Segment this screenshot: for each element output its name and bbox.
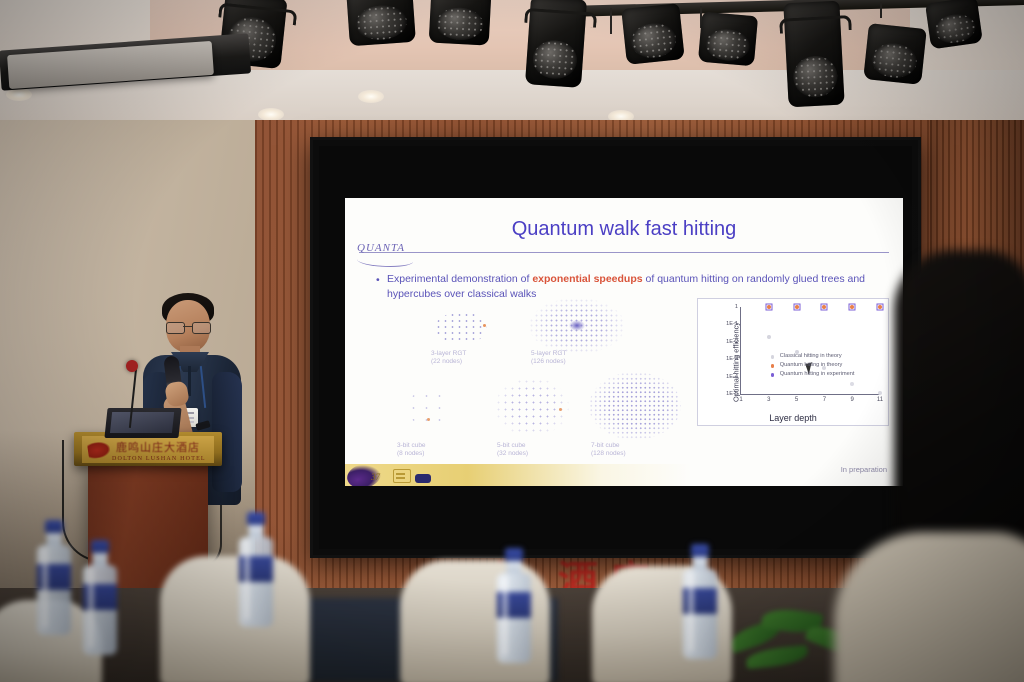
light-lens — [629, 21, 678, 60]
legend-item-quantum-experiment: Quantum hitting in experiment — [769, 370, 855, 379]
bottle-cap — [247, 512, 265, 526]
graph-label: 7-bit cube(128 nodes) — [591, 442, 626, 458]
node-accent — [483, 324, 486, 327]
water-bottle — [672, 544, 728, 682]
chart-y-tick: 1E-3 — [726, 356, 738, 362]
legend-label: Quantum hitting in theory — [780, 362, 843, 368]
led-array — [704, 28, 750, 63]
chart-plot-area: 1 1E-1 1E-2 1E-3 1E-4 1E-5 1 3 5 7 9 11 — [740, 307, 880, 395]
node-core — [569, 320, 585, 331]
chart-x-axis-label: Layer depth — [698, 413, 888, 423]
slide-number: 37 — [371, 472, 380, 482]
hypercube-graph-7bit — [589, 372, 681, 440]
data-point-classical — [767, 335, 771, 339]
glued-tree-graph-5layer — [529, 298, 625, 354]
node-accent — [559, 408, 562, 411]
bullet-text-highlight: exponential speedups — [532, 273, 642, 285]
legend-marker — [771, 373, 775, 377]
glasses-lens-left — [166, 322, 185, 334]
data-point-quantum-experiment — [793, 304, 800, 311]
plant-leaf — [745, 645, 809, 669]
bottle-cap — [45, 520, 63, 534]
led-array — [435, 7, 483, 42]
presentation-slide: Quantum walk fast hitting QUANTA •Experi… — [345, 198, 903, 486]
led-array — [933, 12, 977, 46]
light-lens — [355, 4, 409, 42]
chart-legend: Classical hitting in theory Quantum hitt… — [769, 352, 855, 379]
data-point-quantum-experiment — [765, 304, 772, 311]
bottle-highlight — [244, 540, 250, 620]
light-lens — [704, 28, 750, 63]
legend-marker — [771, 364, 775, 368]
bottle-cap — [505, 548, 523, 562]
bottle-highlight — [502, 576, 508, 656]
podium-sign: 鹿鸣山庄大酒店 DOLTON LUSHAN HOTEL — [82, 436, 214, 463]
light-yoke — [524, 8, 597, 28]
chart-x-tick: 5 — [795, 397, 798, 403]
light-cable — [610, 8, 612, 34]
stage-par-light — [698, 12, 758, 67]
podium-sign-english: DOLTON LUSHAN HOTEL — [112, 456, 206, 462]
stage-par-light — [863, 23, 927, 85]
data-point-quantum-experiment — [877, 304, 884, 311]
chart-x-tick: 11 — [877, 397, 883, 403]
projection-screen: Quantum walk fast hitting QUANTA •Experi… — [310, 137, 921, 558]
legend-label: Quantum hitting in experiment — [780, 371, 855, 377]
bottle-highlight — [688, 572, 694, 652]
bullet-marker: • — [376, 273, 380, 288]
graph-label: 5-bit cube(32 nodes) — [497, 442, 528, 458]
legend-item-classical: Classical hitting in theory — [769, 352, 855, 361]
hotel-logo-icon — [87, 441, 111, 460]
stage-par-light — [429, 0, 492, 46]
footer-chip-icon — [415, 474, 431, 483]
stage-par-light — [525, 0, 587, 88]
glasses-lens-right — [192, 322, 211, 334]
light-lens — [933, 12, 977, 46]
chart-x-tick: 1 — [739, 397, 742, 403]
graph-label: 3-layer RGT(22 nodes) — [431, 350, 466, 366]
node-cloud — [435, 312, 487, 344]
node-cloud — [495, 378, 569, 436]
chart-y-tick: 1E-1 — [726, 321, 738, 327]
audience-member-silhouette — [894, 250, 1024, 550]
water-bottle — [72, 540, 128, 682]
light-lens — [792, 55, 838, 99]
led-array — [532, 39, 578, 81]
speaker-shirt-placket — [188, 366, 191, 396]
data-point-quantum-experiment — [821, 304, 828, 311]
bullet-text-prefix: Experimental demonstration of — [387, 273, 532, 285]
glasses-bridge — [183, 326, 192, 327]
podium-sign-chinese: 鹿鸣山庄大酒店 — [116, 439, 200, 455]
chart-x-tick: 3 — [767, 397, 770, 403]
chart-y-tick: 1 — [735, 304, 738, 310]
data-point-quantum-experiment — [849, 304, 856, 311]
hypercube-graph-5bit — [495, 378, 569, 436]
light-lens — [870, 41, 919, 80]
audience-member-shoulder — [834, 532, 1024, 682]
quanta-logo-text: QUANTA — [357, 242, 405, 254]
quanta-logo-swash — [357, 254, 413, 267]
hitting-efficiency-chart: Optimal hitting efficiency 1 1E-1 1E-2 1… — [697, 298, 889, 426]
graph-label: 5-layer RGT(126 nodes) — [531, 350, 566, 366]
led-array — [355, 4, 409, 42]
podium-laptop — [104, 408, 181, 438]
data-point-classical — [878, 391, 882, 395]
stage-par-light — [346, 0, 416, 46]
data-point-classical — [850, 382, 854, 386]
chart-x-tick: 9 — [851, 397, 854, 403]
legend-item-quantum-theory: Quantum hitting in theory — [769, 361, 855, 370]
glued-tree-graph-3layer — [431, 310, 493, 348]
hypercube-graph-3bit — [401, 384, 461, 434]
legend-label: Classical hitting in theory — [780, 353, 842, 359]
slide-title: Quantum walk fast hitting — [345, 218, 903, 241]
speaker-glasses — [166, 322, 210, 332]
title-divider — [359, 252, 889, 253]
bottle-highlight — [88, 568, 94, 648]
stage-par-light — [621, 3, 685, 65]
light-lens — [435, 7, 483, 42]
bottle-cap — [91, 540, 109, 554]
stage-par-light — [925, 0, 983, 49]
ceiling-downlight — [358, 90, 384, 103]
footer-logo-icon — [393, 469, 411, 483]
led-array — [792, 55, 838, 99]
node-accent — [427, 418, 430, 421]
water-bottle — [228, 512, 284, 662]
chart-y-tick: 1E-2 — [726, 339, 738, 345]
light-lens — [532, 39, 578, 81]
stage-par-light — [783, 1, 844, 108]
chart-y-tick: 1E-5 — [726, 391, 738, 397]
chart-y-tick: 1E-4 — [726, 374, 738, 380]
laptop-screen — [110, 412, 174, 433]
bottle-highlight — [42, 548, 48, 628]
graph-label: 3-bit cube(8 nodes) — [397, 442, 426, 458]
microphone-head — [126, 360, 138, 372]
water-bottle — [486, 548, 542, 682]
chart-x-tick: 7 — [823, 397, 826, 403]
bottle-cap — [691, 544, 709, 558]
led-array — [629, 21, 678, 60]
legend-marker — [771, 355, 775, 359]
led-array — [870, 41, 919, 80]
conference-photo-scene: 山 酒店 OTEL Quantum walk fast h — [0, 0, 1024, 682]
node-cloud — [589, 372, 681, 440]
light-cable — [880, 2, 882, 18]
